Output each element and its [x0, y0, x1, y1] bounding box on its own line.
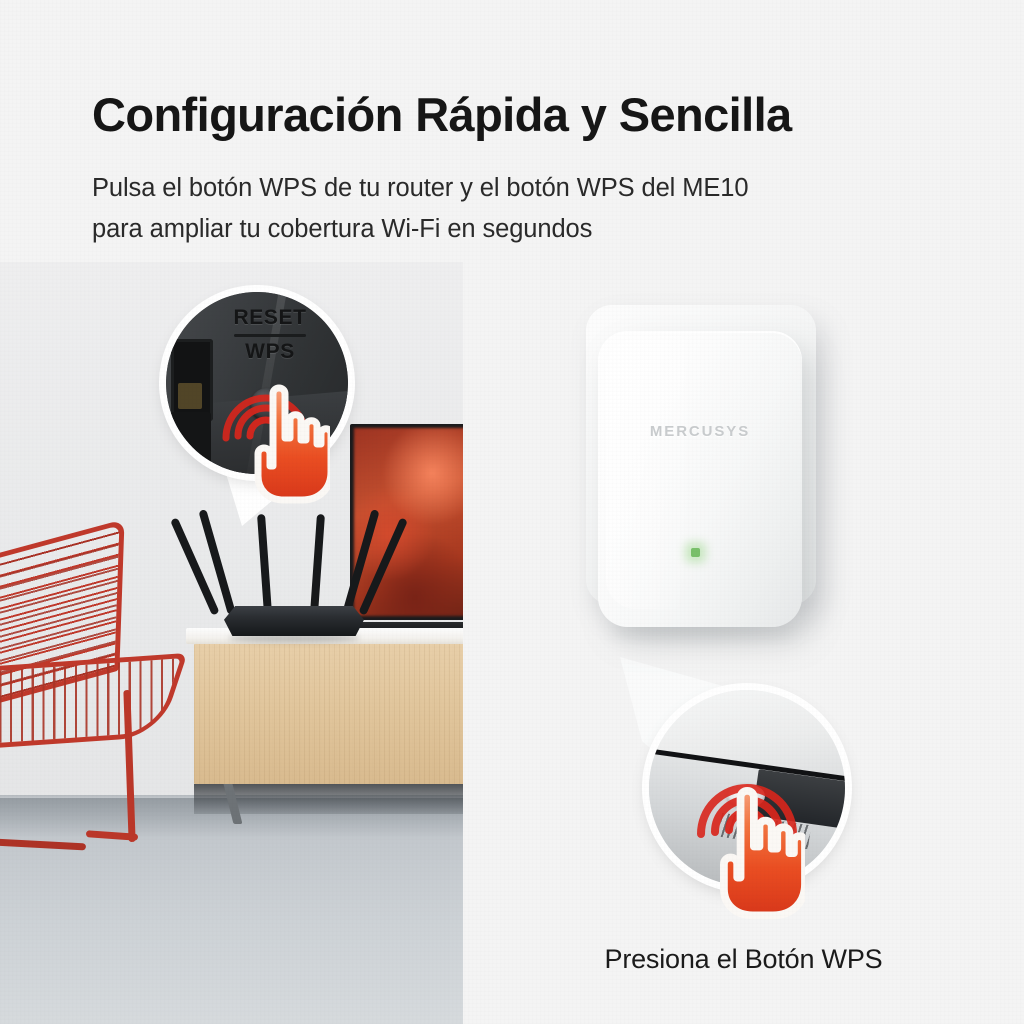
ethernet-port-icon — [171, 339, 213, 421]
device-body — [598, 331, 802, 627]
wooden-tv-console — [186, 628, 463, 800]
mercusys-range-extender: MERCUSYS — [576, 305, 826, 650]
router-antenna — [257, 514, 272, 614]
hand-pointer-icon — [705, 782, 805, 922]
ethernet-port-icon — [171, 412, 211, 470]
device-brand-logo: MERCUSYS — [598, 423, 802, 440]
red-wire-chair — [0, 540, 181, 840]
router-body — [224, 606, 364, 636]
poster-canvas: Configuración Rápida y Sencilla Pulsa el… — [0, 0, 1024, 1024]
device-wps-callout — [645, 686, 851, 918]
reset-label: RESET — [224, 306, 316, 330]
subtitle-line-1: Pulsa el botón WPS de tu router y el bot… — [92, 168, 922, 209]
router-wps-callout: RESET WPS — [160, 288, 360, 528]
callout-caption: Presiona el Botón WPS — [463, 944, 1024, 975]
page-subtitle: Pulsa el botón WPS de tu router y el bot… — [92, 168, 922, 251]
label-divider — [234, 334, 306, 337]
console-body — [194, 644, 463, 784]
page-title: Configuración Rápida y Sencilla — [92, 90, 962, 139]
subtitle-line-2: para ampliar tu cobertura Wi-Fi en segun… — [92, 209, 922, 250]
router-antenna — [310, 514, 325, 614]
hand-pointer-icon — [242, 380, 330, 506]
chair-seat — [0, 653, 188, 751]
status-led — [691, 548, 700, 557]
